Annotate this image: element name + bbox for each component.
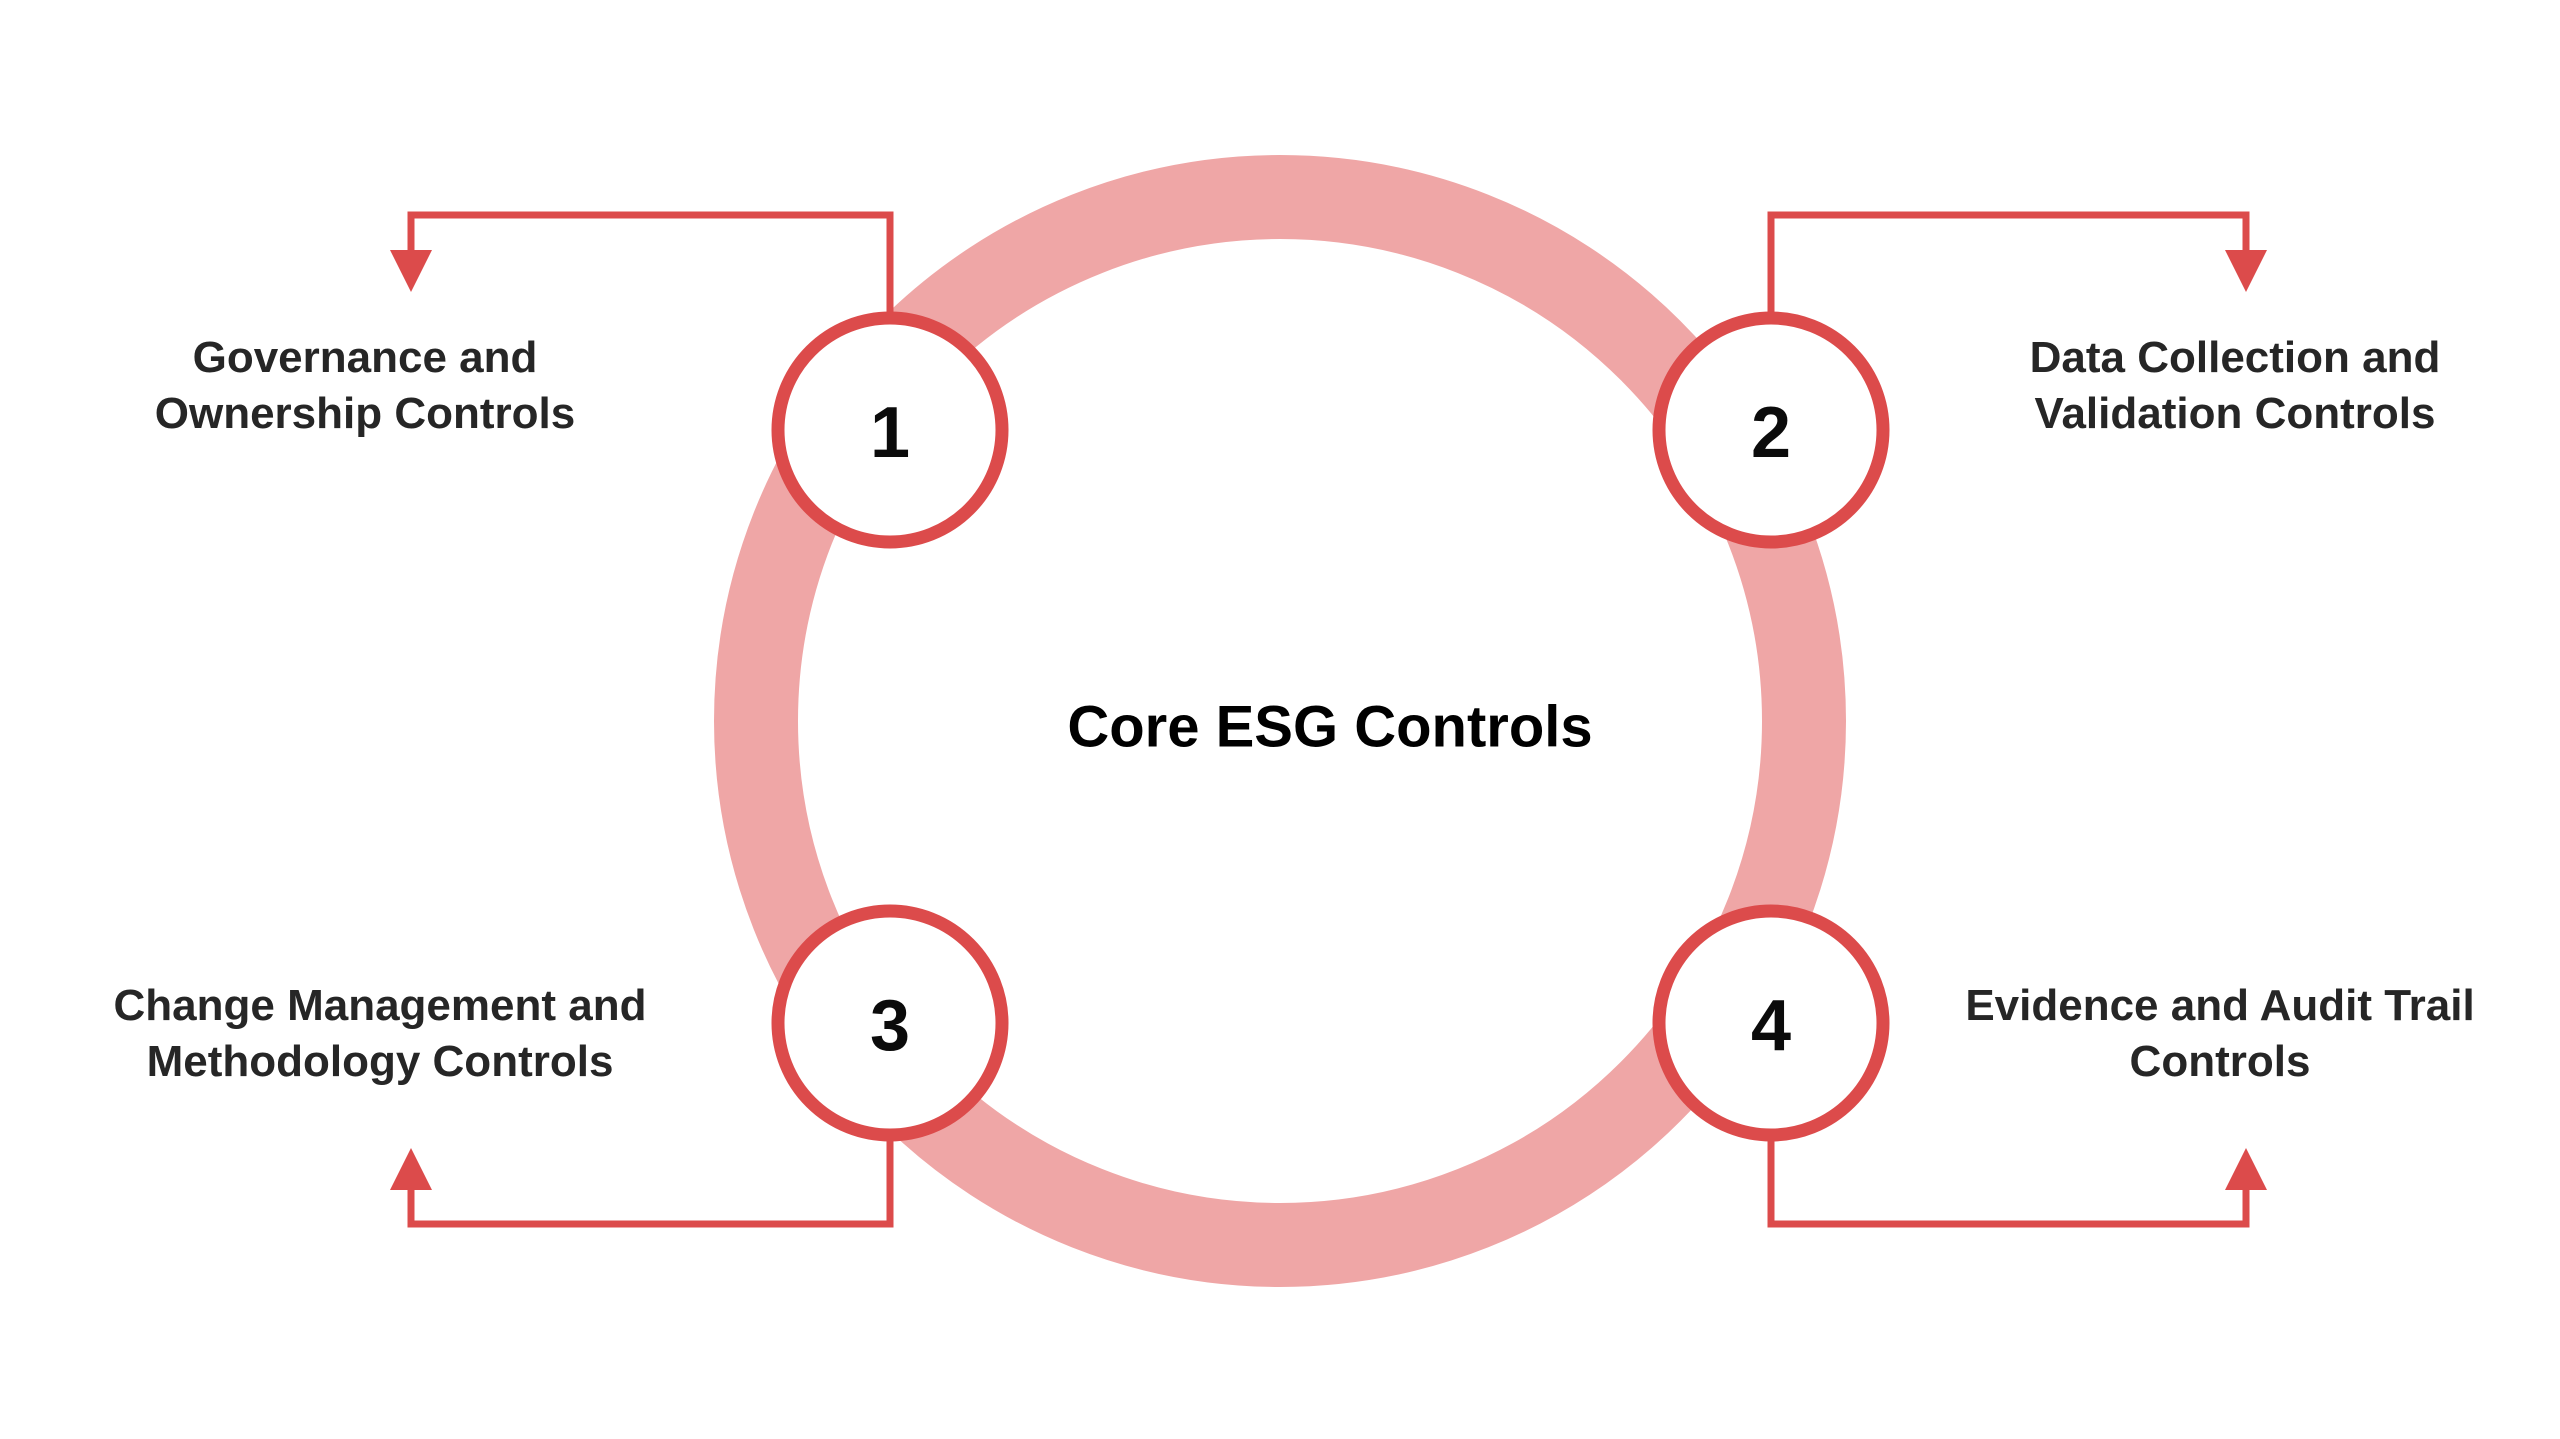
connector-node-3 <box>390 1133 890 1224</box>
node-number-4: 4 <box>1751 986 1791 1066</box>
arrowhead-node-1 <box>390 250 432 292</box>
arrowhead-node-4 <box>2225 1148 2267 1190</box>
connector-node-2 <box>1771 215 2267 312</box>
cycle-diagram: 1 2 3 4 Core ESG Controls <box>0 0 2560 1439</box>
node-label-4: Evidence and Audit Trail Controls <box>1900 978 2540 1091</box>
node-number-1: 1 <box>870 393 910 473</box>
connector-node-1 <box>390 215 890 312</box>
node-circle-1[interactable]: 1 <box>778 318 1002 542</box>
node-label-2: Data Collection and Validation Controls <box>1930 330 2540 443</box>
node-number-2: 2 <box>1751 393 1791 473</box>
diagram-canvas: 1 2 3 4 Core ESG Controls Governance and… <box>0 0 2560 1439</box>
arrowhead-node-2 <box>2225 250 2267 292</box>
node-circle-2[interactable]: 2 <box>1659 318 1883 542</box>
node-circle-4[interactable]: 4 <box>1659 911 1883 1135</box>
node-circle-3[interactable]: 3 <box>778 911 1002 1135</box>
arrowhead-node-3 <box>390 1148 432 1190</box>
node-label-3: Change Management and Methodology Contro… <box>30 978 730 1091</box>
node-number-3: 3 <box>870 986 910 1066</box>
node-label-1: Governance and Ownership Controls <box>60 330 670 443</box>
center-title: Core ESG Controls <box>1067 695 1592 760</box>
connector-node-4 <box>1771 1133 2267 1224</box>
